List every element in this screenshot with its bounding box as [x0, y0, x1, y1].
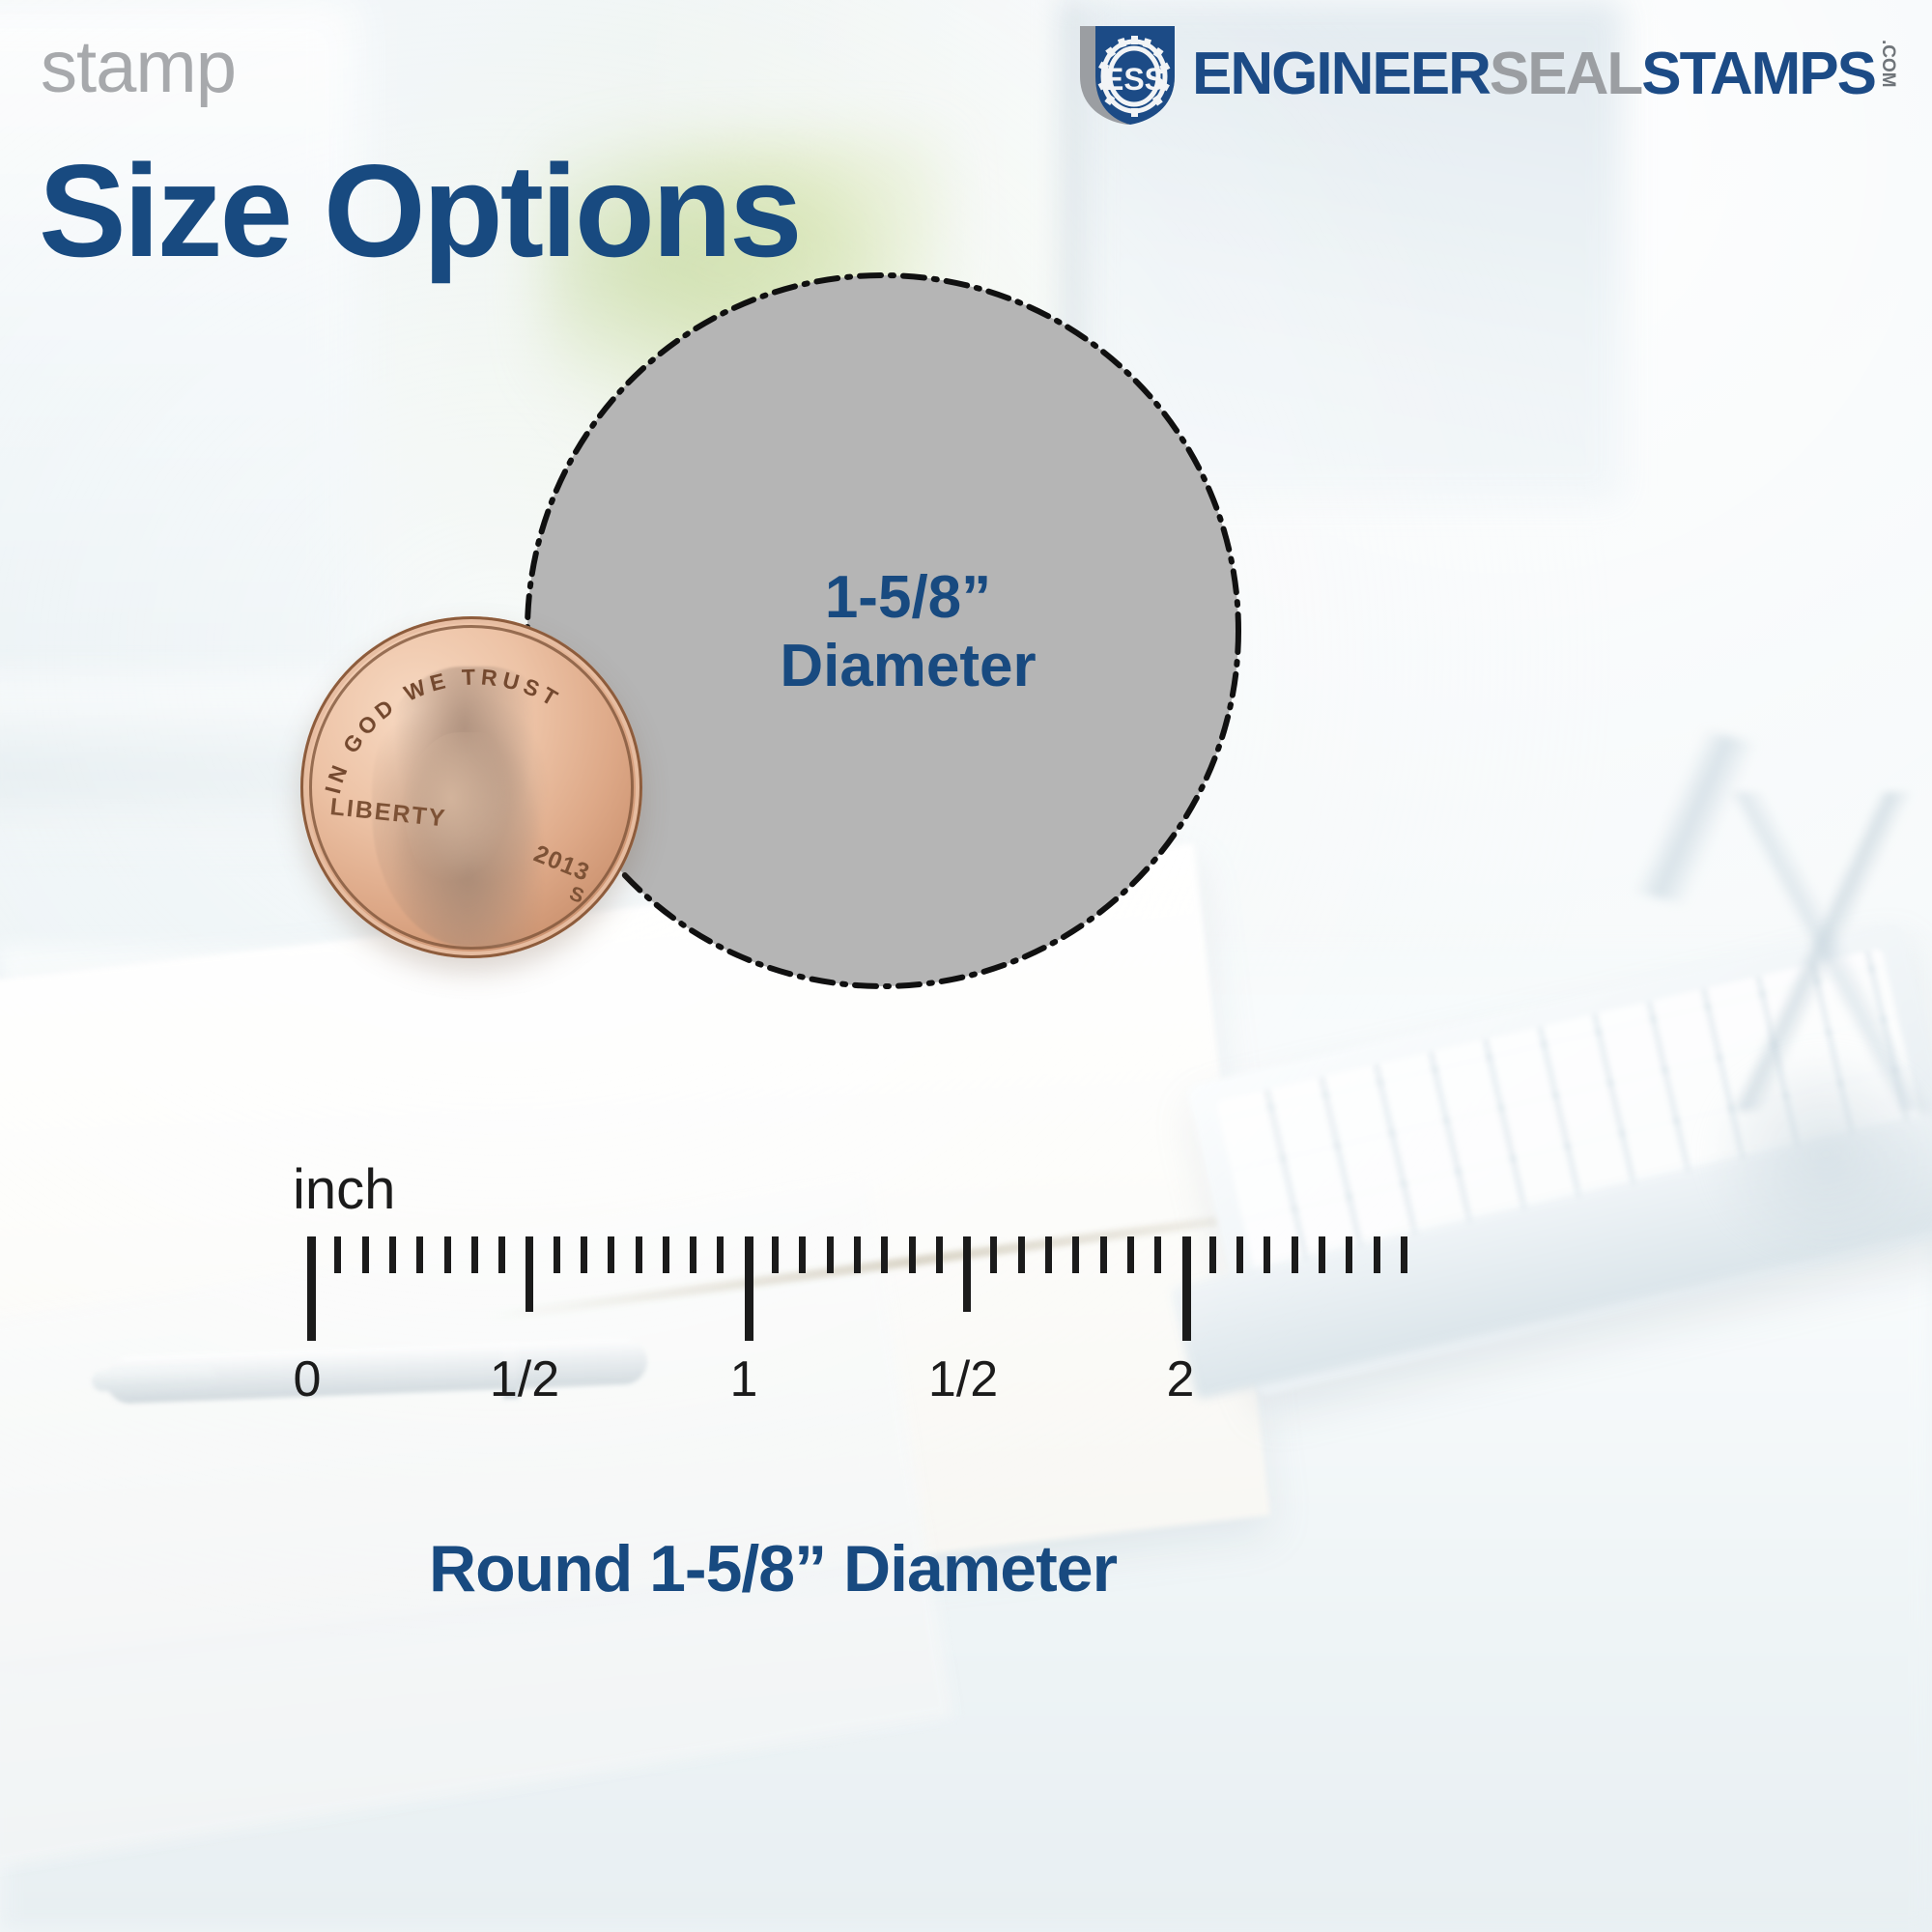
- ruler-tick-minor: [1127, 1236, 1134, 1273]
- circle-size-line2: Diameter: [667, 632, 1150, 700]
- ruler-tick-minor: [1374, 1236, 1380, 1273]
- ruler-tick-mid: [526, 1236, 533, 1312]
- ruler-tick-minor: [1236, 1236, 1243, 1273]
- ruler-tick-minor: [1401, 1236, 1407, 1273]
- ruler-tick-minor: [362, 1236, 369, 1273]
- ruler-tick-major: [745, 1236, 753, 1341]
- ruler-tick-minor: [636, 1236, 642, 1273]
- ess-badge-text: ESS: [1103, 62, 1165, 97]
- penny-scale-reference: IN GOD WE TRUST LIBERTY 2013 S: [300, 616, 642, 958]
- ruler-tick-minor: [827, 1236, 834, 1273]
- logo-word-seal: SEAL: [1490, 44, 1641, 104]
- ruler-tick-minor: [471, 1236, 478, 1273]
- ruler-tick-minor: [1264, 1236, 1270, 1273]
- product-size-graphic: stamp Size Options: [0, 0, 1932, 1932]
- ruler-tick-major: [1182, 1236, 1191, 1341]
- penny-year-text: 2013: [530, 840, 594, 887]
- ruler-tick-minor: [608, 1236, 614, 1273]
- ruler-tick-minor: [1072, 1236, 1079, 1273]
- ruler-tick-minor: [881, 1236, 888, 1273]
- ruler-tick-minor: [1100, 1236, 1107, 1273]
- ruler-label: 2: [1167, 1350, 1195, 1408]
- ruler-tick-minor: [581, 1236, 587, 1273]
- ruler-tick-minor: [1346, 1236, 1352, 1273]
- ruler-tick-minor: [936, 1236, 943, 1273]
- ruler-tick-minor: [1292, 1236, 1298, 1273]
- ruler-tick-minor: [854, 1236, 861, 1273]
- ruler-tick-minor: [690, 1236, 696, 1273]
- ruler-tick-minor: [444, 1236, 451, 1273]
- logo-word-tld: .COM: [1879, 40, 1897, 88]
- ruler-tick-mid: [963, 1236, 971, 1312]
- ruler-label: 0: [294, 1350, 322, 1408]
- logo-word-stamps: STAMPS: [1641, 44, 1875, 104]
- circle-size-label: 1-5/8” Diameter: [667, 563, 1150, 701]
- ruler-tick-minor: [389, 1236, 396, 1273]
- ruler-tick-minor: [909, 1236, 916, 1273]
- ess-badge-icon: ESS: [1074, 22, 1182, 127]
- ruler-tick-minor: [663, 1236, 669, 1273]
- ruler-label: 1/2: [928, 1350, 998, 1408]
- ruler-tick-minor: [799, 1236, 806, 1273]
- ruler-tick-minor: [554, 1236, 560, 1273]
- ruler-tick-minor: [498, 1236, 505, 1273]
- ess-wordmark: ENGINEERSEALSTAMPS.COM: [1192, 44, 1897, 104]
- ruler-tick-minor: [1018, 1236, 1025, 1273]
- page-title: Size Options: [39, 145, 800, 276]
- ruler-label: 1/2: [490, 1350, 559, 1408]
- ruler-tick-minor: [334, 1236, 341, 1273]
- ruler-tick-minor: [1319, 1236, 1325, 1273]
- ruler-tick-minor: [717, 1236, 724, 1273]
- logo-word-engineer: ENGINEER: [1192, 44, 1490, 104]
- ruler-tick-minor: [1045, 1236, 1052, 1273]
- ruler-unit-label: inch: [293, 1157, 395, 1222]
- size-caption: Round 1-5/8” Diameter: [0, 1531, 1546, 1606]
- ruler-label: 1: [730, 1350, 758, 1408]
- ruler: 01/211/22: [0, 1236, 1932, 1488]
- penny-mint-mark-text: S: [566, 882, 587, 908]
- background-cup-shadow: [1700, 1043, 1932, 1265]
- penny-motto-text: IN GOD WE TRUST: [320, 665, 566, 797]
- ruler-tick-major: [307, 1236, 316, 1341]
- ruler-tick-minor: [772, 1236, 779, 1273]
- ruler-tick-minor: [416, 1236, 423, 1273]
- ruler-tick-minor: [990, 1236, 997, 1273]
- ruler-tick-minor: [1154, 1236, 1161, 1273]
- ess-logo[interactable]: ESS ENGINEERSEALSTAMPS.COM: [1074, 21, 1897, 128]
- brand-word: stamp: [41, 31, 236, 104]
- penny-liberty-text: LIBERTY: [328, 793, 447, 832]
- circle-size-line1: 1-5/8”: [667, 563, 1150, 632]
- ruler-tick-minor: [1209, 1236, 1216, 1273]
